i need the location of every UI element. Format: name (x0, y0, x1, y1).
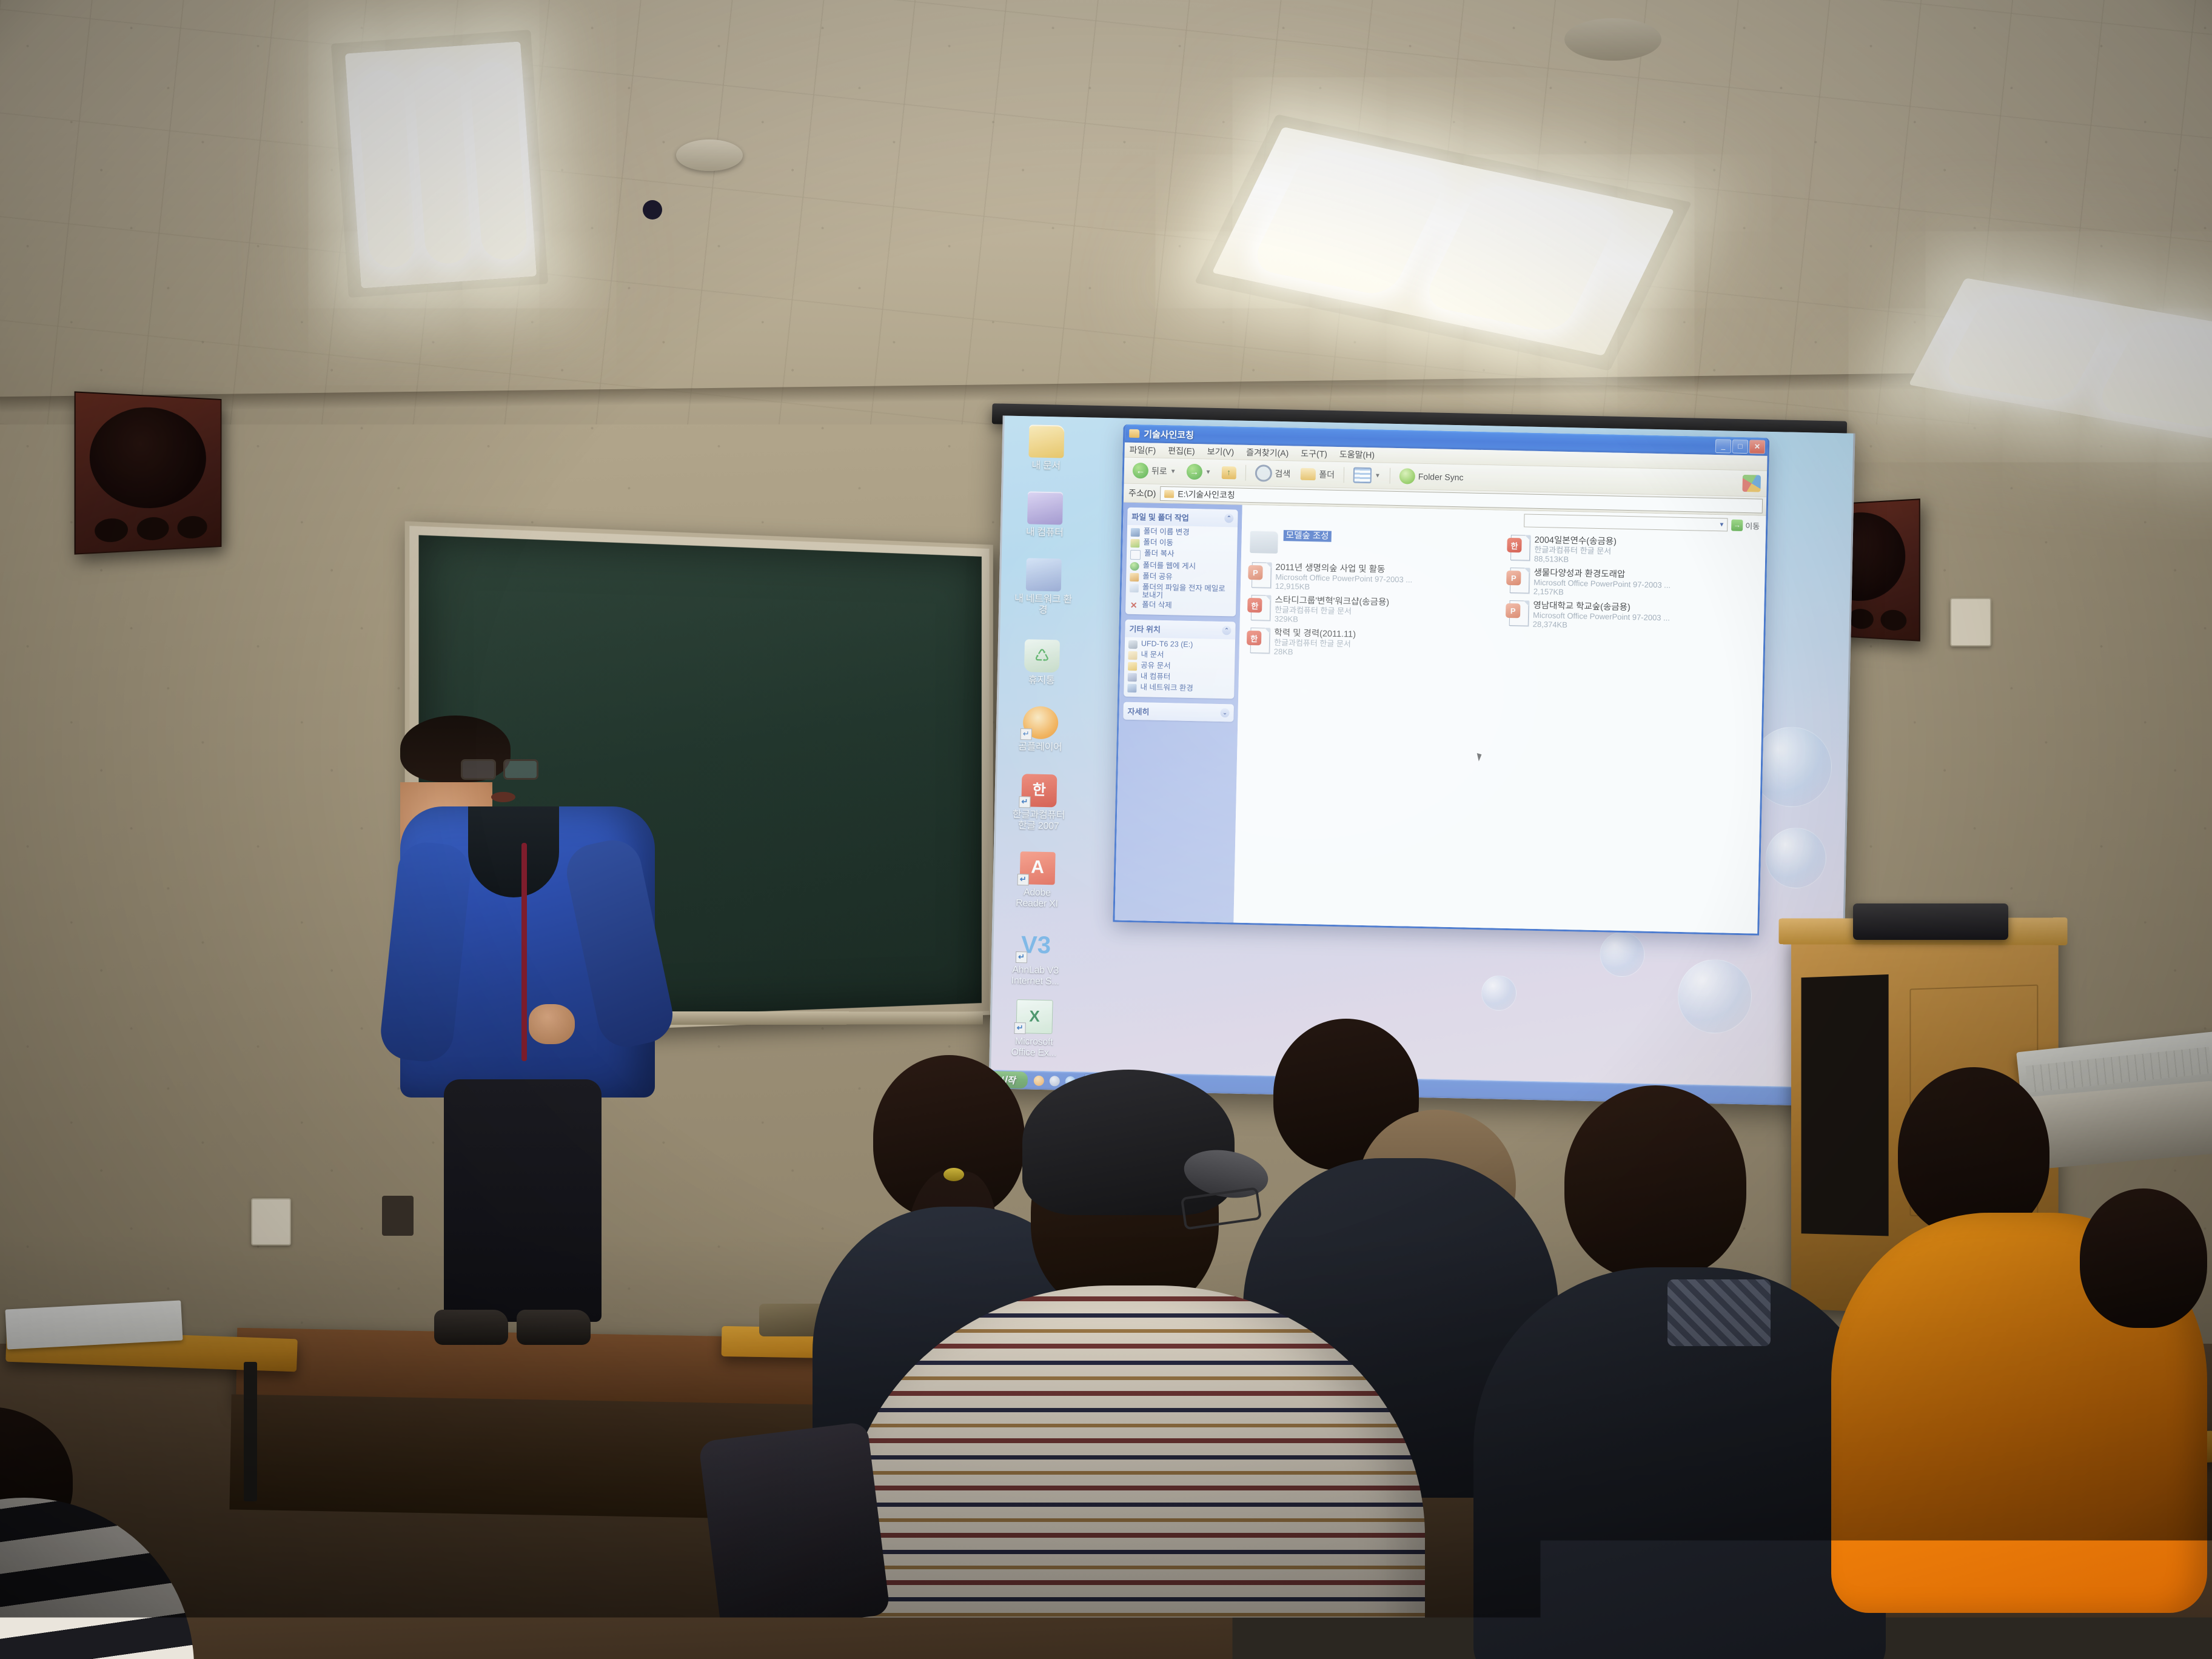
my-network-places-icon (1026, 558, 1062, 591)
menu-help[interactable]: 도움말(H) (1339, 448, 1375, 461)
folder-icon (1164, 490, 1174, 498)
file-item-ppt[interactable]: P 영남대학교 학교숲(송금용) Microsoft Office PowerP… (1507, 600, 1757, 634)
windows-xp-desktop: 내 문서 내 컴퓨터 내 네트워크 환경 ♺ 휴지통 ↵ 곰플레이어 한 (991, 415, 1854, 1106)
back-button[interactable]: ← 뒤로 ▼ (1129, 461, 1180, 481)
classroom-photo-scene: 내 문서 내 컴퓨터 내 네트워크 환경 ♺ 휴지통 ↵ 곰플레이어 한 (0, 0, 2212, 1659)
black-case-on-podium (1853, 903, 2008, 940)
path-dropdown[interactable]: ▼ (1524, 514, 1728, 531)
folder-icon (1250, 531, 1278, 554)
ceiling-light-1 (345, 41, 537, 288)
place-removable-drive[interactable]: UFD-T6 23 (E:) (1128, 640, 1232, 651)
black-cap (1022, 1070, 1235, 1215)
close-button[interactable]: ✕ (1749, 440, 1765, 454)
toolbar-separator (1245, 465, 1246, 481)
move-folder-icon (1130, 539, 1139, 548)
shortcut-overlay-icon: ↵ (1017, 874, 1029, 885)
place-my-documents[interactable]: 내 문서 (1128, 651, 1231, 662)
my-documents-icon (1128, 651, 1137, 660)
views-button[interactable]: ▼ (1350, 466, 1385, 484)
wallpaper-bubble (1600, 931, 1646, 977)
place-my-computer[interactable]: 내 컴퓨터 (1128, 672, 1231, 684)
hair-tie (943, 1168, 964, 1181)
file-list[interactable]: ▼ → 이동 모델숲 조성 (1233, 505, 1766, 934)
copy-folder-icon (1130, 550, 1141, 560)
folders-icon (1301, 468, 1316, 481)
publish-web-icon (1130, 562, 1139, 571)
desktop-icon-excel[interactable]: X ↵ Microsoft Office Ex... (1005, 999, 1064, 1059)
excel-icon: X ↵ (1016, 999, 1053, 1034)
presenter-shoe (434, 1310, 508, 1345)
podium-shelf-cavity (1801, 974, 1889, 1236)
section-header[interactable]: 자세히 ⌄ (1123, 702, 1234, 722)
hwp-file-icon: 한 (1508, 535, 1529, 561)
folders-button[interactable]: 폴더 (1297, 467, 1338, 482)
chevron-up-icon[interactable]: ⌃ (1224, 514, 1233, 523)
file-item-ppt[interactable]: P 2011년 생명의숲 사업 및 활동 Microsoft Office Po… (1249, 562, 1500, 595)
back-arrow-icon: ← (1133, 463, 1149, 479)
address-label: 주소(D) (1128, 487, 1156, 500)
presenter-mouth (491, 792, 515, 802)
chevron-down-icon[interactable]: ▼ (1375, 472, 1381, 479)
student-head (1564, 1085, 1746, 1279)
task-publish-folder-to-web[interactable]: 폴더를 웹에 게시 (1130, 561, 1233, 573)
section-header[interactable]: 파일 및 폴더 작업 ⌃ (1127, 508, 1238, 528)
file-item-folder[interactable]: 모델숲 조성 (1250, 529, 1500, 563)
chevron-down-icon[interactable]: ▼ (1205, 469, 1211, 475)
other-places-list: UFD-T6 23 (E:) 내 문서 공유 문서 (1124, 637, 1235, 699)
file-item-hwp[interactable]: 한 학력 및 경력(2011.11) 한글과컴퓨터 한글 문서 28KB (1248, 628, 1498, 661)
wallpaper-bubble (1765, 827, 1827, 889)
folder-sync-button[interactable]: Folder Sync (1396, 467, 1467, 486)
menu-view[interactable]: 보기(V) (1207, 445, 1234, 458)
browser-icon[interactable] (1049, 1076, 1059, 1086)
toolbar-separator (1344, 467, 1345, 483)
menu-file[interactable]: 파일(F) (1129, 444, 1156, 457)
window-title: 기술사인코칭 (1144, 427, 1194, 441)
student-head (1898, 1067, 2049, 1237)
toolbar-separator (1390, 468, 1391, 484)
place-shared-documents[interactable]: 공유 문서 (1128, 662, 1231, 673)
minimize-button[interactable]: _ (1715, 439, 1731, 454)
task-share-folder[interactable]: 폴더 공유 (1130, 572, 1233, 584)
bag-under-desk (699, 1421, 891, 1635)
wall-power-outlet[interactable] (251, 1198, 291, 1245)
shortcut-overlay-icon: ↵ (1021, 728, 1032, 740)
desktop-icon-ahnlab-v3[interactable]: V3 ↵ AhnLab V3 Internet S... (1006, 929, 1065, 988)
email-icon (1130, 584, 1139, 592)
file-item-ppt[interactable]: P 생물다양성과 환경도래압 Microsoft Office PowerPoi… (1507, 568, 1758, 601)
search-icon (1255, 464, 1272, 482)
presenter-trousers (444, 1079, 602, 1322)
section-header[interactable]: 기타 위치 ⌃ (1125, 620, 1236, 640)
wallpaper-bubble (1481, 975, 1517, 1011)
gom-player-icon: ↵ (1023, 706, 1059, 739)
file-grid: 모델숲 조성 한 2004일본연수(송금용) 한글과컴퓨 (1248, 529, 1758, 666)
desk-leg (244, 1362, 257, 1501)
task-copy-folder[interactable]: 폴더 복사 (1130, 549, 1233, 562)
desktop-icon-my-network-places[interactable]: 내 네트워크 환경 (1014, 558, 1073, 617)
other-places-section: 기타 위치 ⌃ UFD-T6 23 (E:) 내 문서 (1124, 620, 1236, 699)
my-computer-icon (1128, 673, 1137, 682)
desktop-icon-adobe-reader[interactable]: A ↵ Adobe Reader XI (1008, 851, 1067, 910)
projection-screen: 내 문서 내 컴퓨터 내 네트워크 환경 ♺ 휴지통 ↵ 곰플레이어 한 (989, 415, 1855, 1106)
forward-button[interactable]: → ▼ (1182, 463, 1215, 481)
go-button[interactable]: → 이동 (1731, 519, 1760, 531)
file-size: 28KB (1274, 647, 1356, 658)
explorer-window[interactable]: 기술사인코칭 _ □ ✕ 파일(F) 편집(E) 보기(V) 즐겨찾기(A) 도… (1113, 424, 1769, 936)
presenter-jacket-zipper (521, 843, 527, 1061)
shared-documents-icon (1128, 662, 1137, 671)
file-item-hwp[interactable]: 한 2004일본연수(송금용) 한글과컴퓨터 한글 문서 88,513KB (1508, 535, 1758, 568)
shortcut-overlay-icon: ↵ (1014, 1022, 1025, 1034)
file-folder-tasks-section: 파일 및 폴더 작업 ⌃ 폴더 이름 변경 폴더 이동 (1125, 508, 1238, 617)
task-pane: 파일 및 폴더 작업 ⌃ 폴더 이름 변경 폴더 이동 (1114, 503, 1242, 923)
task-rename-folder[interactable]: 폴더 이름 변경 (1131, 528, 1234, 539)
adobe-reader-icon: A ↵ (1020, 851, 1056, 885)
go-bar[interactable]: ▼ → 이동 (1524, 514, 1760, 532)
plaid-collar (1667, 1279, 1771, 1346)
chevron-down-icon[interactable]: ⌄ (1220, 708, 1229, 717)
explorer-body: 파일 및 폴더 작업 ⌃ 폴더 이름 변경 폴더 이동 (1114, 503, 1766, 934)
glasses-icon (461, 759, 538, 777)
ceiling-smoke-detector (676, 139, 743, 171)
search-button[interactable]: 검색 (1251, 463, 1294, 483)
rename-icon (1131, 528, 1140, 537)
hwp-file-icon: 한 (1248, 628, 1269, 654)
wallpaper-bubble (1677, 959, 1753, 1034)
task-list: 폴더 이름 변경 폴더 이동 폴더 복사 (1125, 525, 1238, 617)
shortcut-overlay-icon: ↵ (1019, 796, 1030, 808)
delete-icon: ✕ (1129, 602, 1138, 610)
desktop-icon-my-documents[interactable]: 내 문서 (1017, 424, 1076, 472)
wall-speaker-left (75, 391, 222, 554)
file-size: 88,513KB (1534, 554, 1617, 565)
menu-favorites[interactable]: 즐겨찾기(A) (1246, 446, 1289, 459)
gom-icon[interactable] (1033, 1075, 1044, 1085)
menu-tools[interactable]: 도구(T) (1301, 447, 1327, 460)
file-item-hwp[interactable]: 한 스타디그룹'변혁'워크샵(송금용) 한글과컴퓨터 한글 문서 329KB (1248, 595, 1499, 628)
file-name: 모델숲 조성 (1284, 530, 1332, 542)
ahnlab-v3-icon: V3 ↵ (1018, 929, 1054, 962)
file-size: 329KB (1275, 614, 1389, 626)
presenter-inner-collar (468, 806, 559, 897)
desktop-icon-gom-player[interactable]: ↵ 곰플레이어 (1011, 706, 1070, 754)
wall-thermostat[interactable] (1950, 598, 1991, 646)
powerpoint-file-icon: P (1507, 600, 1528, 626)
ceiling-vent (1564, 18, 1661, 61)
chevron-up-icon[interactable]: ⌃ (1222, 626, 1231, 635)
removable-drive-icon (1128, 640, 1138, 649)
desktop-icon-recycle-bin[interactable]: ♺ 휴지통 (1012, 639, 1071, 687)
shortcut-overlay-icon: ↵ (1016, 951, 1027, 963)
details-section: 자세히 ⌄ (1123, 702, 1234, 722)
my-network-places-icon (1127, 684, 1136, 692)
student-head (2080, 1188, 2207, 1328)
task-email-folder-files[interactable]: 폴더의 파일을 전자 메일로 보내기 (1129, 583, 1233, 602)
go-arrow-icon: → (1731, 519, 1743, 531)
recycle-bin-icon: ♺ (1024, 639, 1060, 672)
up-folder-icon: ↑ (1221, 466, 1236, 478)
presenter-standing (400, 716, 667, 1358)
powerpoint-file-icon: P (1249, 562, 1270, 588)
my-computer-icon (1027, 491, 1063, 525)
task-delete-folder[interactable]: ✕ 폴더 삭제 (1129, 601, 1232, 612)
desktop-icon-hangul-2007[interactable]: 한 ↵ 한글과컴퓨터 한글 2007 (1009, 774, 1068, 833)
hangul-2007-icon: 한 ↵ (1021, 774, 1057, 807)
forward-arrow-icon: → (1186, 464, 1202, 480)
windows-flag-logo (1742, 475, 1761, 492)
up-button[interactable]: ↑ (1218, 464, 1240, 480)
presenter-hand (529, 1004, 575, 1044)
task-move-folder[interactable]: 폴더 이동 (1130, 538, 1233, 550)
window-controls[interactable]: _ □ ✕ (1715, 439, 1765, 454)
maximize-button[interactable]: □ (1732, 439, 1748, 454)
mouse-cursor-icon (1477, 752, 1483, 761)
my-documents-icon (1028, 424, 1064, 458)
chevron-down-icon[interactable]: ▼ (1170, 468, 1176, 475)
share-folder-icon (1130, 573, 1139, 581)
menu-edit[interactable]: 편집(E) (1168, 444, 1195, 457)
powerpoint-file-icon: P (1507, 568, 1529, 594)
chevron-down-icon[interactable]: ▼ (1718, 521, 1724, 528)
desktop-icon-my-computer[interactable]: 내 컴퓨터 (1016, 491, 1075, 539)
folder-sync-icon (1399, 468, 1416, 484)
address-value: E:\기술사인코칭 (1178, 488, 1235, 501)
place-my-network-places[interactable]: 내 네트워크 환경 (1127, 683, 1230, 695)
presenter-shoe (517, 1310, 591, 1345)
wall-nail (643, 200, 662, 220)
views-icon (1353, 468, 1372, 484)
folder-icon (1129, 429, 1139, 438)
hwp-file-icon: 한 (1248, 595, 1270, 621)
